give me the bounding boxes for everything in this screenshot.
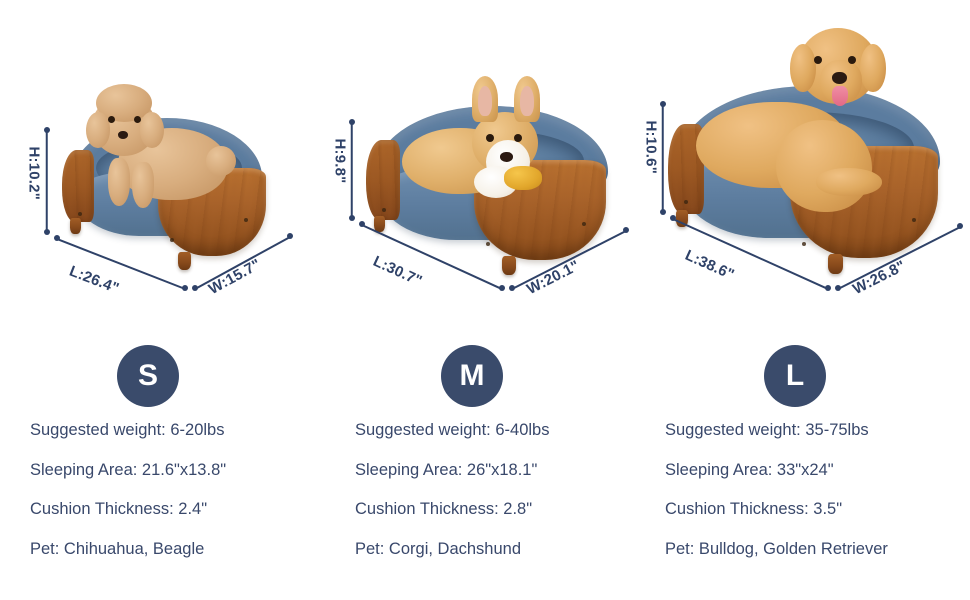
dog-chest: [776, 120, 872, 212]
width-dimension-label: W:15.7": [206, 256, 264, 298]
dog-eye: [514, 134, 522, 142]
spec-cushion-thickness: Cushion Thickness: 2.8": [355, 501, 655, 518]
spec-list-small: Suggested weight: 6-20lbs Sleeping Area:…: [30, 422, 330, 557]
badge-row-large: L: [648, 345, 970, 407]
bed-screw: [382, 208, 386, 212]
bed-leg: [502, 256, 516, 275]
spec-pet-breeds: Pet: Bulldog, Golden Retriever: [665, 541, 965, 558]
dog-tail: [206, 146, 236, 176]
width-dimension-label: W:20.1": [524, 257, 582, 298]
size-badge-medium: M: [441, 345, 503, 407]
spec-suggested-weight: Suggested weight: 35-75lbs: [665, 422, 965, 439]
dog-eye: [814, 56, 822, 64]
height-dimension-label: H:9.8": [332, 139, 349, 184]
size-badge-large: L: [764, 345, 826, 407]
dog-nose: [832, 72, 847, 84]
spec-suggested-weight: Suggested weight: 6-20lbs: [30, 422, 330, 439]
bed-screw: [78, 212, 82, 216]
height-dimension-line: [46, 131, 48, 233]
bed-leg: [828, 254, 843, 274]
dog-nose: [118, 131, 128, 139]
dog-ear: [86, 112, 110, 148]
spec-suggested-weight: Suggested weight: 6-40lbs: [355, 422, 655, 439]
dog-front-leg: [132, 162, 154, 208]
dog-ear: [790, 44, 816, 92]
dog-nose: [500, 152, 513, 162]
spec-sleeping-area: Sleeping Area: 21.6"x13.8": [30, 462, 330, 479]
dog-ear: [140, 112, 164, 148]
bed-screw: [486, 242, 490, 246]
spec-list-medium: Suggested weight: 6-40lbs Sleeping Area:…: [355, 422, 655, 557]
chew-toy: [504, 166, 542, 190]
height-dimension-label: H:10.6": [643, 121, 660, 175]
dog-tongue: [832, 86, 848, 106]
height-dimension-line: [351, 123, 353, 219]
bed-screw: [170, 238, 174, 242]
bed-screw: [244, 218, 248, 222]
spec-sleeping-area: Sleeping Area: 26"x18.1": [355, 462, 655, 479]
spec-pet-breeds: Pet: Corgi, Dachshund: [355, 541, 655, 558]
spec-list-large: Suggested weight: 35-75lbs Sleeping Area…: [665, 422, 965, 557]
product-illustration-large: H:10.6" L:38.6" W:26.8": [648, 0, 970, 320]
size-column-small: H:10.2" L:26.4" W:15.7" S Suggested weig…: [0, 0, 324, 600]
dog-eye: [134, 116, 141, 123]
length-dimension-label: L:26.4": [67, 263, 122, 298]
bed-screw: [802, 242, 806, 246]
product-illustration-small: H:10.2" L:26.4" W:15.7": [0, 0, 324, 320]
size-chart-stage: H:10.2" L:26.4" W:15.7" S Suggested weig…: [0, 0, 970, 600]
dog-ear-inner: [478, 86, 492, 116]
size-column-medium: H:9.8" L:30.7" W:20.1" M Suggested weigh…: [324, 0, 648, 600]
bed-screw: [582, 222, 586, 226]
badge-row-small: S: [0, 345, 324, 407]
badge-row-medium: M: [324, 345, 648, 407]
dog-ear: [860, 44, 886, 92]
spec-cushion-thickness: Cushion Thickness: 3.5": [665, 501, 965, 518]
height-dimension-label: H:10.2": [26, 147, 43, 201]
dog-ear-inner: [520, 86, 534, 116]
spec-pet-breeds: Pet: Chihuahua, Beagle: [30, 541, 330, 558]
dog-front-leg: [816, 168, 882, 196]
dog-eye: [486, 134, 494, 142]
width-dimension-label: W:26.8": [850, 257, 908, 298]
bed-wood-side-panel: [62, 150, 94, 222]
bed-screw: [684, 200, 688, 204]
length-dimension-label: L:30.7": [370, 253, 424, 290]
dog-eye: [848, 56, 856, 64]
product-illustration-medium: H:9.8" L:30.7" W:20.1": [324, 0, 648, 320]
spec-sleeping-area: Sleeping Area: 33"x24": [665, 462, 965, 479]
size-column-large: H:10.6" L:38.6" W:26.8" L Suggested weig…: [648, 0, 970, 600]
size-badge-small: S: [117, 345, 179, 407]
bed-leg: [70, 218, 81, 234]
spec-cushion-thickness: Cushion Thickness: 2.4": [30, 501, 330, 518]
dog-eye: [108, 116, 115, 123]
bed-screw: [912, 218, 916, 222]
length-dimension-label: L:38.6": [683, 247, 737, 284]
bed-leg: [178, 252, 191, 270]
dog-front-leg: [108, 158, 130, 206]
height-dimension-line: [662, 105, 664, 213]
